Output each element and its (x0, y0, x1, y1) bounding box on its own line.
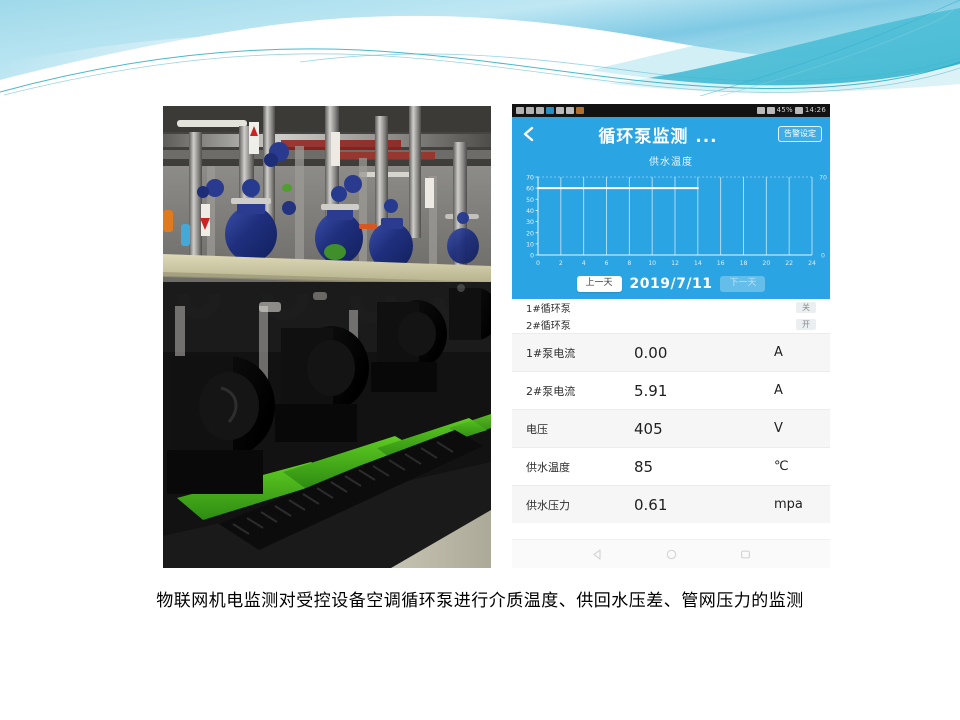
recents-square-icon[interactable] (739, 548, 752, 561)
svg-text:0: 0 (530, 253, 534, 260)
decorative-wave-banner (0, 0, 960, 96)
svg-text:4: 4 (582, 260, 586, 267)
day-navigation: 上一天 2019/7/11 下一天 (512, 274, 830, 294)
measurement-value: 85 (634, 458, 774, 476)
measurement-label: 1#泵电流 (526, 345, 634, 361)
svg-text:40: 40 (526, 208, 534, 215)
svg-text:12: 12 (671, 260, 679, 267)
svg-text:14: 14 (694, 260, 702, 267)
measurement-value: 0.00 (634, 344, 774, 362)
signal-icon (536, 107, 544, 114)
chart-panel: 供水温度 01020304050607002468101214161820222… (512, 151, 830, 299)
measurement-row: 电压405V (512, 409, 830, 447)
svg-text:24: 24 (808, 260, 816, 267)
svg-text:0: 0 (821, 253, 825, 260)
signal-icon (526, 107, 534, 114)
measurement-unit: mpa (774, 497, 816, 512)
svg-text:10: 10 (526, 241, 534, 248)
measurement-row: 1#泵电流0.00A (512, 333, 830, 371)
banner-wave-graphic (0, 0, 960, 96)
recents-square-glyph (739, 548, 752, 561)
app-icon (566, 107, 574, 114)
svg-text:18: 18 (740, 260, 748, 267)
clock-time: 14:26 (805, 107, 826, 114)
status-bar-right-icons: 45% 14:26 (757, 107, 826, 114)
notification-icon (516, 107, 524, 114)
chevron-left-glyph (520, 125, 538, 143)
chart-svg: 010203040506070024681012141618202224070 (512, 169, 830, 274)
svg-text:8: 8 (627, 260, 631, 267)
measurement-value: 0.61 (634, 496, 774, 514)
pump-status-row: 2#循环泵开 (512, 316, 830, 333)
measurement-value: 405 (634, 420, 774, 438)
chevron-left-icon[interactable] (520, 125, 538, 143)
measurement-label: 2#泵电流 (526, 383, 634, 399)
android-navigation-bar (512, 539, 830, 568)
measurement-label: 供水压力 (526, 497, 634, 513)
svg-text:22: 22 (785, 260, 793, 267)
home-circle-icon[interactable] (665, 548, 678, 561)
chart-title: 供水温度 (512, 153, 830, 168)
wifi-icon (546, 107, 554, 114)
measurement-row: 2#泵电流5.91A (512, 371, 830, 409)
alarm-settings-button[interactable]: 告警设定 (778, 126, 822, 142)
measurement-unit: V (774, 421, 816, 436)
pump-status-badge: 关 (796, 302, 816, 314)
pump-status-badge: 开 (796, 319, 816, 331)
status-bar-left-icons (516, 107, 584, 114)
svg-text:60: 60 (526, 186, 534, 193)
sim-icon (767, 107, 775, 114)
pump-status-label: 2#循环泵 (526, 317, 571, 332)
measurement-row: 供水温度85℃ (512, 447, 830, 485)
pump-room-photo (163, 106, 491, 568)
measurement-list: 1#循环泵关2#循环泵开1#泵电流0.00A2#泵电流5.91A电压405V供水… (512, 299, 830, 539)
phone-status-bar: 45% 14:26 (512, 104, 830, 117)
home-circle-glyph (665, 548, 678, 561)
presentation-slide: 45% 14:26 循环泵监测 ... 告警设定 供水温度 0102030405… (0, 0, 960, 720)
alarm-icon (757, 107, 765, 114)
pump-status-row: 1#循环泵关 (512, 299, 830, 316)
battery-percent: 45% (777, 107, 793, 114)
svg-text:6: 6 (605, 260, 609, 267)
pump-status-label: 1#循环泵 (526, 300, 571, 315)
supply-water-temperature-chart[interactable]: 010203040506070024681012141618202224070 (512, 169, 830, 274)
svg-text:20: 20 (526, 230, 534, 237)
measurement-row: 供水压力0.61mpa (512, 485, 830, 523)
slide-caption: 物联网机电监测对受控设备空调循环泵进行介质温度、供回水压差、管网压力的监测 (0, 586, 960, 611)
svg-text:2: 2 (559, 260, 563, 267)
svg-text:50: 50 (526, 197, 534, 204)
measurement-label: 供水温度 (526, 459, 634, 475)
app-bar: 循环泵监测 ... 告警设定 (512, 117, 830, 151)
app-icon (576, 107, 584, 114)
svg-text:70: 70 (526, 175, 534, 182)
measurement-unit: A (774, 345, 816, 360)
svg-text:30: 30 (526, 219, 534, 226)
back-triangle-icon[interactable] (591, 548, 604, 561)
measurement-value: 5.91 (634, 382, 774, 400)
svg-text:20: 20 (762, 260, 770, 267)
svg-text:0: 0 (536, 260, 540, 267)
battery-icon (795, 107, 803, 114)
previous-day-button[interactable]: 上一天 (577, 276, 622, 291)
measurement-unit: A (774, 383, 816, 398)
bluetooth-icon (556, 107, 564, 114)
page-title: 循环泵监测 ... (538, 122, 778, 147)
svg-text:16: 16 (717, 260, 725, 267)
svg-text:10: 10 (648, 260, 656, 267)
svg-text:70: 70 (819, 175, 827, 182)
next-day-button[interactable]: 下一天 (720, 276, 765, 291)
back-triangle-glyph (591, 548, 604, 561)
mobile-app-screenshot: 45% 14:26 循环泵监测 ... 告警设定 供水温度 0102030405… (512, 104, 830, 568)
measurement-label: 电压 (526, 421, 634, 437)
selected-date: 2019/7/11 (630, 276, 713, 292)
measurement-unit: ℃ (774, 459, 816, 474)
pump-room-photo-graphic (163, 106, 491, 568)
